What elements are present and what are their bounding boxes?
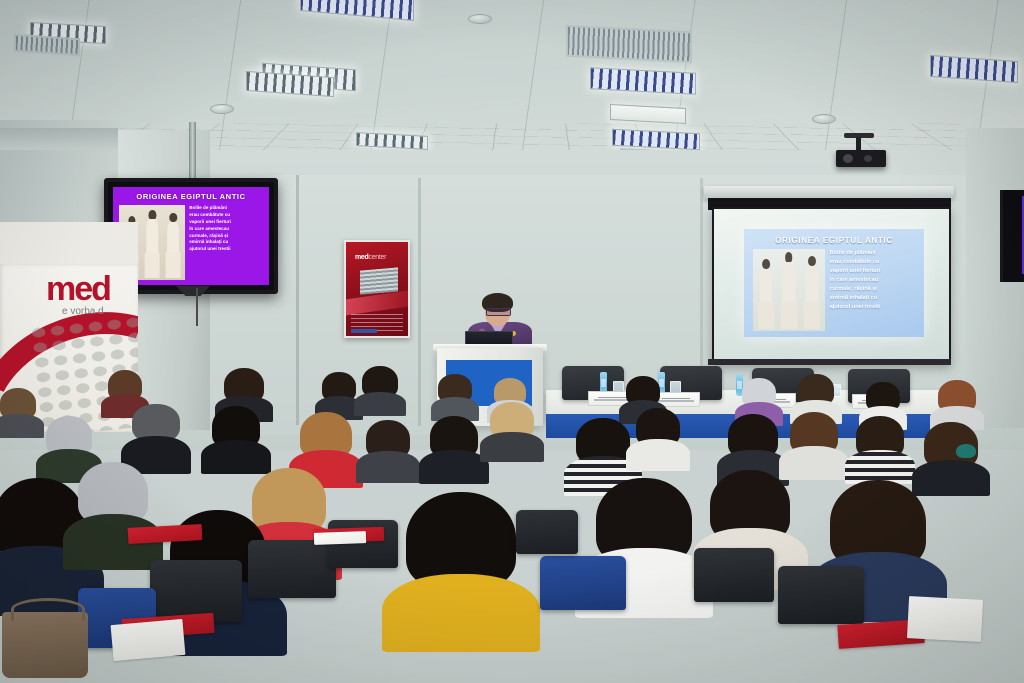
audience-chair (694, 548, 774, 602)
banner-logo-text: med (46, 272, 110, 306)
audience-member (212, 406, 260, 454)
audience-member (742, 378, 776, 411)
projector-vent-icon (864, 155, 872, 162)
audience-member (108, 370, 142, 404)
audience-member (362, 366, 398, 402)
audience-chair (540, 556, 626, 610)
audience-chair (516, 510, 578, 554)
tv-ceiling-mount-pole (189, 122, 196, 186)
ceiling-projector (836, 150, 886, 167)
audience-member (438, 374, 472, 406)
handout-paper (314, 531, 366, 545)
glasses-icon (486, 308, 511, 316)
audience-member (576, 418, 630, 472)
slide-title: ORIGINEA EGIPTUL ANTIC (744, 229, 924, 245)
poster-footer-bar (351, 329, 377, 333)
audience-member (626, 376, 660, 409)
audience-chair (778, 566, 864, 624)
audience-member (938, 380, 976, 416)
smoke-detector-icon (210, 104, 234, 114)
handout-paper (907, 596, 983, 642)
audience-member (322, 372, 356, 405)
conference-room-photo: ORIGINEA EGIPTUL ANTIC (0, 0, 1024, 683)
tv-cable (196, 288, 198, 326)
wall-corner-edge (700, 178, 703, 378)
slide-image-egyptian-figures (753, 249, 825, 331)
slide-body-text: Bolile de plămânierau combătute cu vapor… (189, 205, 263, 280)
smoke-detector-icon (468, 14, 492, 24)
audience-member (430, 416, 478, 464)
slide-blue: ORIGINEA EGIPTUL ANTIC (744, 229, 924, 337)
handbag-strap (11, 598, 86, 621)
poster-building-image (360, 267, 398, 294)
handout-paper (111, 619, 186, 661)
audience-member (790, 412, 838, 460)
left-wall-soffit (0, 128, 118, 150)
audience-member (366, 420, 410, 464)
ceiling-air-vent (566, 25, 692, 64)
audience-chair (150, 560, 242, 622)
slide-body-text: Bolile de plămânierau combătute cu vapor… (830, 249, 916, 331)
hair-bow (956, 444, 976, 458)
audience-member (636, 408, 680, 452)
audience-seating-area (0, 360, 1024, 683)
poster-graphic-band (346, 291, 408, 316)
audience-member (866, 382, 900, 416)
projector-lens-icon (843, 154, 853, 163)
handbag (2, 612, 88, 678)
audience-member (710, 470, 790, 560)
poster-logo: medcenter (355, 254, 386, 261)
banner-backing-wall (0, 222, 138, 266)
wall-mounted-tv-right (1000, 190, 1024, 282)
audience-member (132, 404, 180, 450)
audience-chair (248, 540, 336, 598)
audience-member (300, 412, 352, 462)
audience-member (224, 368, 264, 406)
smoke-detector-icon (812, 114, 836, 124)
wall-poster: medcenter (344, 240, 410, 338)
audience-member (856, 416, 904, 464)
audience-member (406, 492, 516, 612)
banner-tagline: e vorba d (62, 306, 104, 317)
audience-member (798, 374, 834, 410)
audience-member (0, 388, 36, 424)
projection-screen: ORIGINEA EGIPTUL ANTIC (712, 207, 951, 365)
slide-title: ORIGINEA EGIPTUL ANTIC (113, 187, 269, 201)
audience-member (46, 416, 92, 462)
audience-member (490, 402, 534, 444)
audience-member (728, 414, 778, 464)
